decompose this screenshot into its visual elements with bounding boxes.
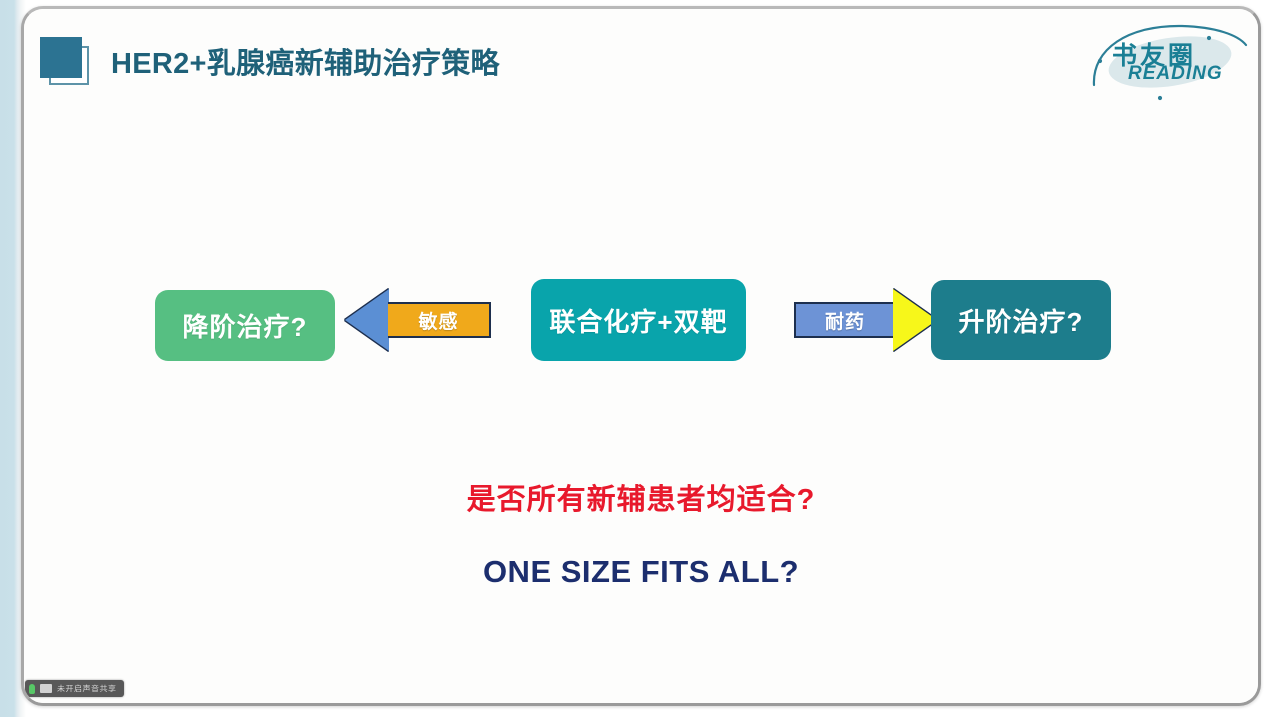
slide-surface: HER2+乳腺癌新辅助治疗策略 书友圈 READING 降阶治疗? xyxy=(24,9,1258,703)
brand-name-en: READING xyxy=(1128,63,1223,85)
stacked-squares-icon xyxy=(35,36,93,86)
screen-share-viewport: HER2+乳腺癌新辅助治疗策略 书友圈 READING 降阶治疗? xyxy=(0,0,1269,717)
page-title: HER2+乳腺癌新辅助治疗策略 xyxy=(111,40,500,82)
stacked-squares-front xyxy=(40,37,82,78)
question-english: ONE SIZE FITS ALL? xyxy=(24,554,1258,590)
treatment-flow-diagram: 降阶治疗? 敏感 联合化疗+双靶 耐药 升阶治疗? xyxy=(24,267,1258,377)
brand-logo: 书友圈 READING xyxy=(1086,13,1251,105)
flow-node-combination-therapy: 联合化疗+双靶 xyxy=(531,279,746,361)
microphone-icon xyxy=(29,684,35,694)
flow-node-escalate: 升阶治疗? xyxy=(931,280,1111,360)
flow-arrow-sensitive: 敏感 xyxy=(345,289,492,351)
status-badge: 未开启声音共享 xyxy=(25,680,124,697)
slide-frame: HER2+乳腺癌新辅助治疗策略 书友圈 READING 降阶治疗? xyxy=(21,6,1261,706)
screen-share-icon xyxy=(40,684,52,693)
flow-arrow-sensitive-label: 敏感 xyxy=(388,302,491,338)
status-badge-label: 未开启声音共享 xyxy=(57,683,117,693)
flow-arrow-resistant: 耐药 xyxy=(794,289,937,351)
flow-node-deescalate: 降阶治疗? xyxy=(155,290,335,361)
flow-arrow-resistant-label: 耐药 xyxy=(794,302,894,338)
arrow-head-left-icon xyxy=(345,289,389,351)
slide-header: HER2+乳腺癌新辅助治疗策略 xyxy=(24,23,1258,93)
question-chinese: 是否所有新辅患者均适合? xyxy=(24,476,1258,518)
